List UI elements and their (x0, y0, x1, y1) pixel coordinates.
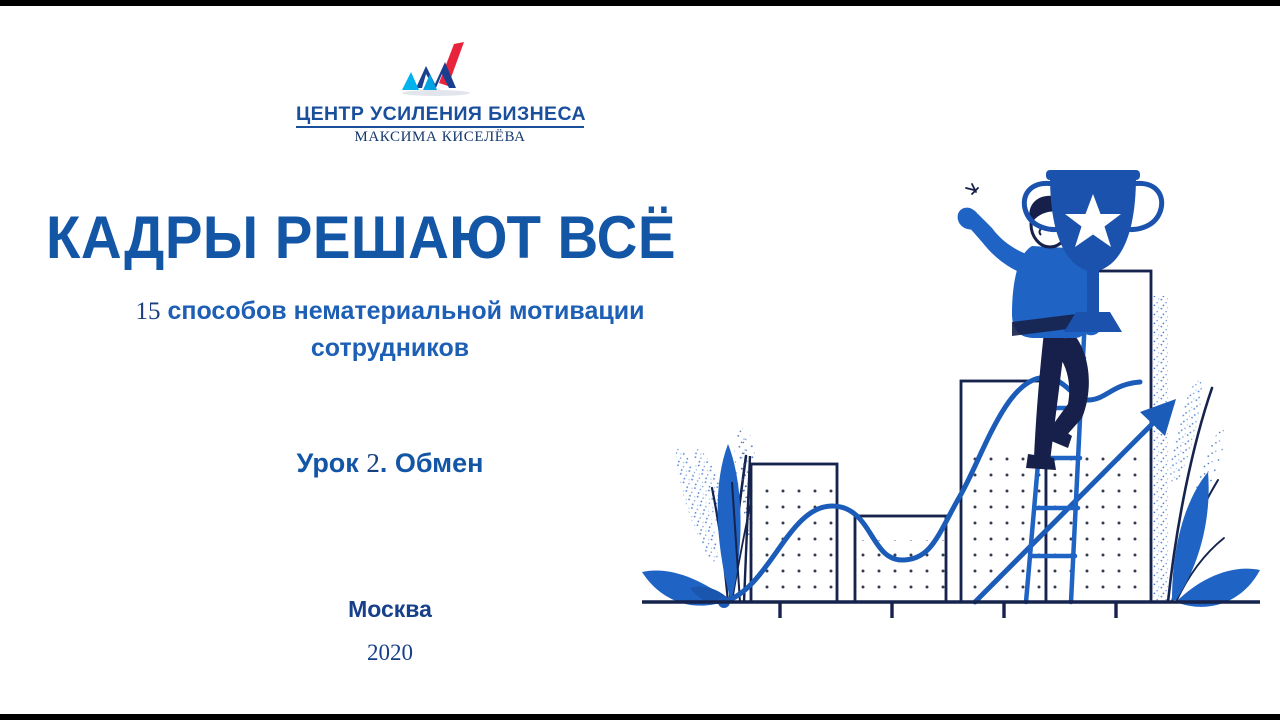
lesson-suffix: . Обмен (380, 448, 484, 478)
subtitle-line-1: способов нематериальной мотивации (161, 297, 645, 325)
brand-logo: ЦЕНТР УСИЛЕНИЯ БИЗНЕСА МАКСИМА КИСЕЛЁВА (296, 40, 584, 142)
logo-company-name: ЦЕНТР УСИЛЕНИЯ БИЗНЕСА (296, 104, 584, 128)
subtitle-line-2: сотрудников (311, 334, 469, 362)
lesson-number: 2 (366, 448, 380, 478)
logo-person-name: МАКСИМА КИСЕЛЁВА (296, 129, 584, 146)
stipple-column-icon (1153, 296, 1169, 602)
business-growth-illustration (620, 136, 1260, 626)
chart-arrow-logo-icon (392, 40, 488, 102)
leaf-plants-icon (1164, 377, 1260, 606)
subtitle-count: 15 (136, 298, 161, 325)
presentation-slide: ЦЕНТР УСИЛЕНИЯ БИЗНЕСА МАКСИМА КИСЕЛЁВА … (0, 6, 1280, 714)
footer-year: 2020 (40, 640, 740, 666)
chart-baseline-axis (642, 602, 1260, 618)
lesson-prefix: Урок (297, 448, 367, 478)
